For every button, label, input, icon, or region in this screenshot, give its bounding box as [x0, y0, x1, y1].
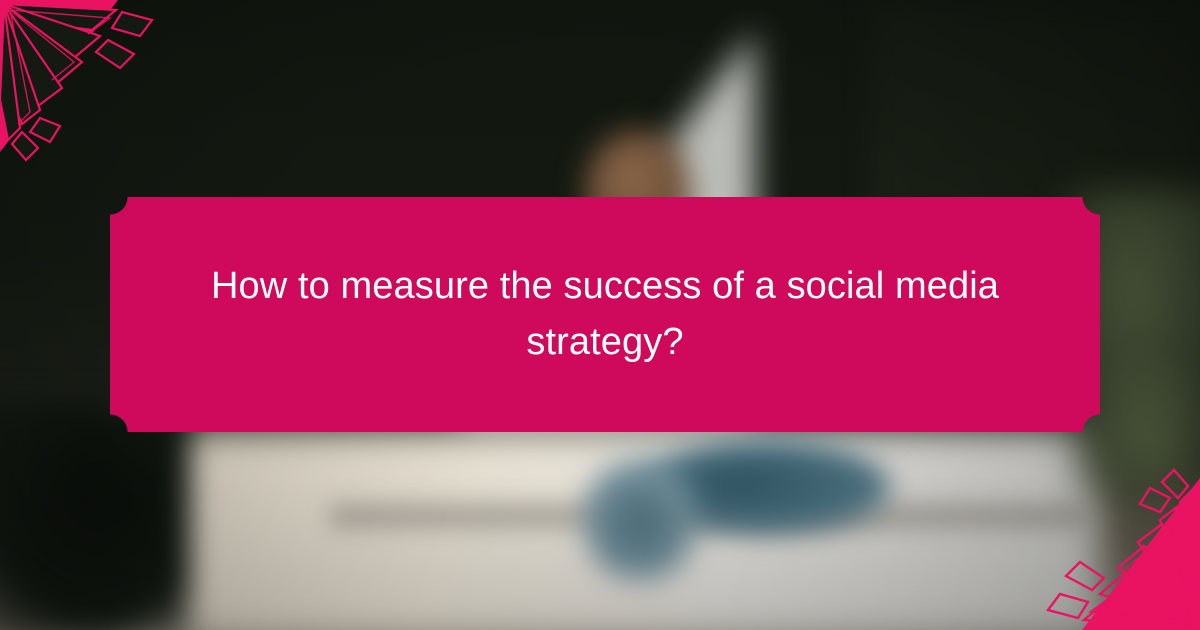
title-banner: How to measure the success of a social m… — [110, 197, 1100, 432]
share-card: How to measure the success of a social m… — [0, 0, 1200, 630]
page-title: How to measure the success of a social m… — [195, 259, 1015, 369]
